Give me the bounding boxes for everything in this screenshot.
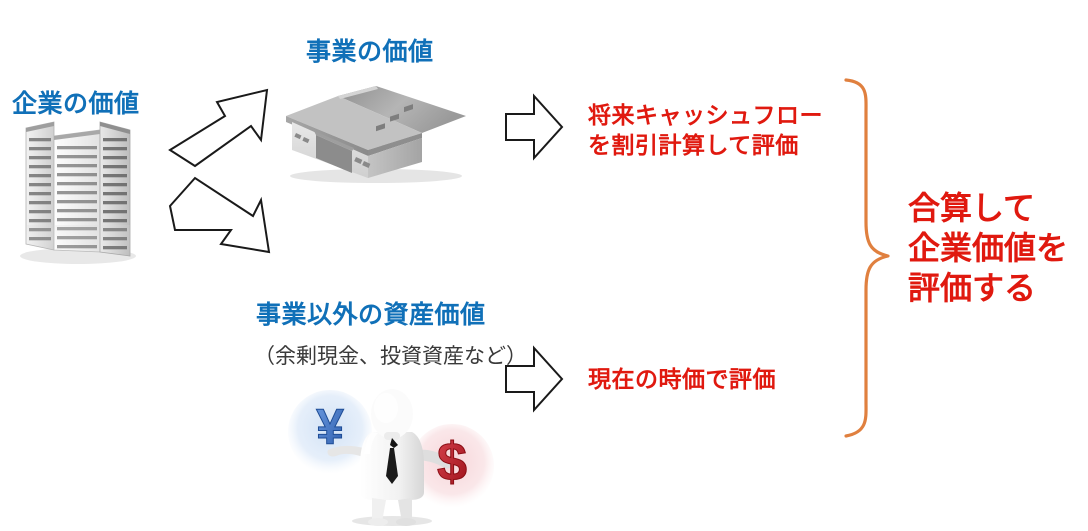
note-summary: 合算して 企業価値を 評価する — [908, 188, 1068, 308]
arrow-right-icon-top — [498, 92, 568, 162]
note-summary-line3: 評価する — [908, 268, 1068, 308]
note-dcf-line1: 将来キャッシュフロー — [588, 100, 823, 130]
note-market-value: 現在の時価で評価 — [588, 360, 776, 394]
svg-text:¥: ¥ — [316, 399, 344, 455]
businessman-currency-icon: ¥ $ — [286, 388, 498, 528]
arrow-up-right-icon — [165, 78, 285, 178]
arrow-right-icon-bottom — [498, 344, 568, 414]
svg-text:$: $ — [437, 432, 467, 492]
diagram-canvas: 企業の価値 事業の価値 — [0, 0, 1088, 531]
page-title-nonbusiness-value: 事業以外の資産価値 — [256, 295, 486, 331]
curly-brace-right-icon — [832, 72, 902, 444]
factory-warehouse-icon — [272, 78, 472, 188]
page-title-business-value: 事業の価値 — [306, 32, 434, 68]
subtitle-nonbusiness-note: （余剰現金、投資資産など） — [254, 340, 527, 370]
note-summary-line2: 企業価値を — [908, 228, 1068, 268]
note-summary-line1: 合算して — [908, 188, 1068, 228]
page-title-enterprise-value: 企業の価値 — [12, 84, 140, 120]
note-dcf-line2: を割引計算して評価 — [588, 130, 823, 160]
note-dcf: 将来キャッシュフロー を割引計算して評価 — [588, 100, 823, 160]
office-building-icon — [8, 100, 148, 265]
